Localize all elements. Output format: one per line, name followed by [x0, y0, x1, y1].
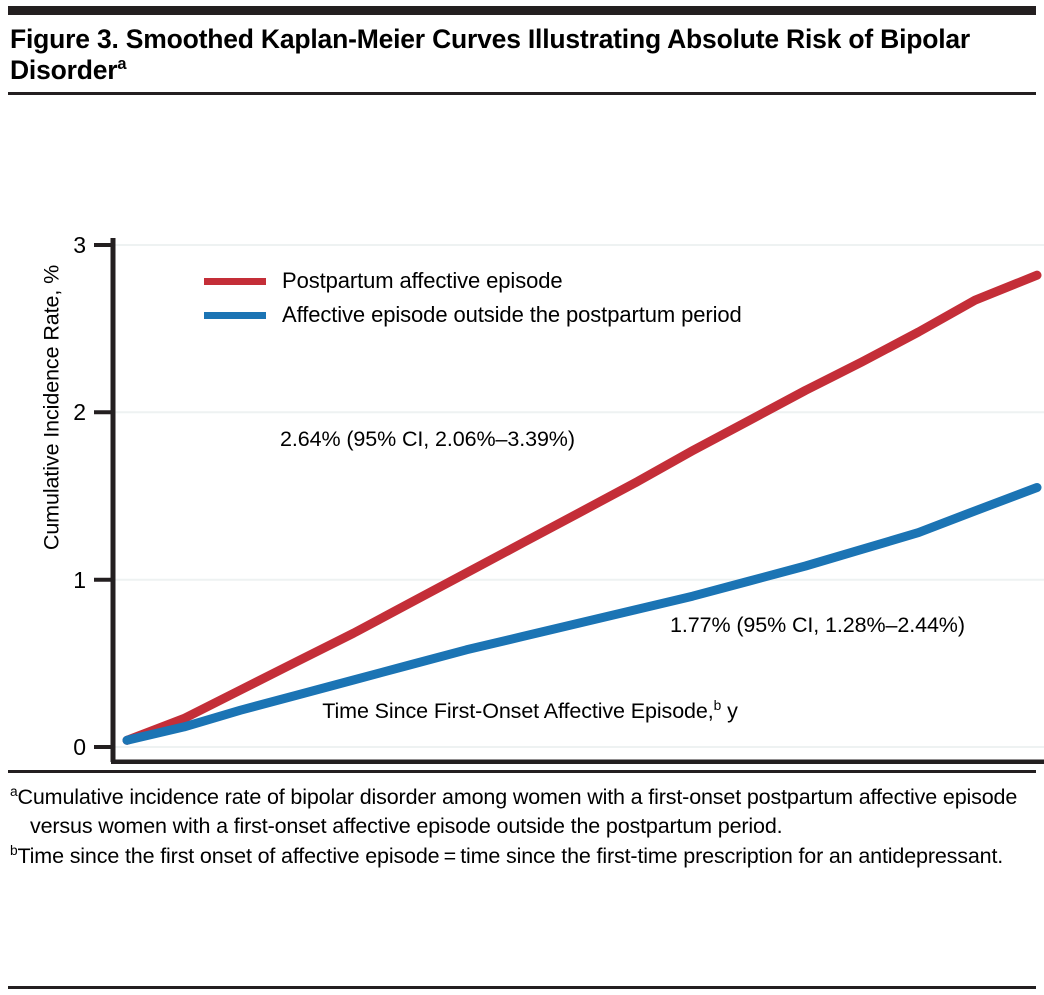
- legend-swatch-blue: [204, 312, 266, 319]
- figure-title-text: Figure 3. Smoothed Kaplan-Meier Curves I…: [10, 24, 970, 85]
- y-tick-label-3: 3: [73, 232, 86, 258]
- footnote-a-marker: a: [10, 784, 18, 799]
- annotation-outside-postpartum-estimate: 1.77% (95% CI, 1.28%–2.44%): [670, 613, 965, 638]
- chart-legend: Postpartum affective episode Affective e…: [204, 264, 742, 332]
- annotation-postpartum-estimate: 2.64% (95% CI, 2.06%–3.39%): [280, 427, 575, 452]
- x-axis-title-unit: y: [727, 699, 738, 723]
- legend-swatch-red: [204, 278, 266, 285]
- legend-label-outside-postpartum: Affective episode outside the postpartum…: [282, 302, 742, 328]
- y-tick-label-2: 2: [73, 399, 86, 425]
- figure-title: Figure 3. Smoothed Kaplan-Meier Curves I…: [8, 15, 1008, 92]
- curve-postpartum-affective-episode: [127, 275, 1037, 740]
- footnotes: aCumulative incidence rate of bipolar di…: [8, 773, 1036, 870]
- footnote-b-text: Time since the first onset of affective …: [18, 844, 1004, 868]
- plot-area: 3 2 1 0 0 5 10 15 C: [8, 99, 1044, 764]
- figure-container: Figure 3. Smoothed Kaplan-Meier Curves I…: [0, 6, 1044, 995]
- figure-title-footnote-marker: a: [117, 55, 126, 73]
- footnote-b-marker: b: [10, 842, 18, 857]
- legend-label-postpartum: Postpartum affective episode: [282, 268, 563, 294]
- footnote-b: bTime since the first onset of affective…: [10, 842, 1032, 871]
- legend-item-postpartum: Postpartum affective episode: [204, 264, 742, 298]
- x-axis-title-text: Time Since First-Onset Affective Episode…: [322, 699, 713, 723]
- footnote-a: aCumulative incidence rate of bipolar di…: [10, 783, 1032, 841]
- x-axis-title: Time Since First-Onset Affective Episode…: [8, 699, 1044, 724]
- y-tick-label-1: 1: [73, 567, 86, 593]
- y-tick-label-0: 0: [73, 734, 86, 760]
- footnote-a-text: Cumulative incidence rate of bipolar dis…: [18, 785, 1018, 838]
- x-axis-title-footnote-marker: b: [714, 698, 722, 713]
- y-axis-title: Cumulative Incidence Rate, %: [40, 128, 65, 688]
- title-rule: [8, 92, 1036, 95]
- top-rule: [8, 6, 1036, 15]
- legend-item-outside-postpartum: Affective episode outside the postpartum…: [204, 298, 742, 332]
- y-axis-ticks: [94, 245, 112, 747]
